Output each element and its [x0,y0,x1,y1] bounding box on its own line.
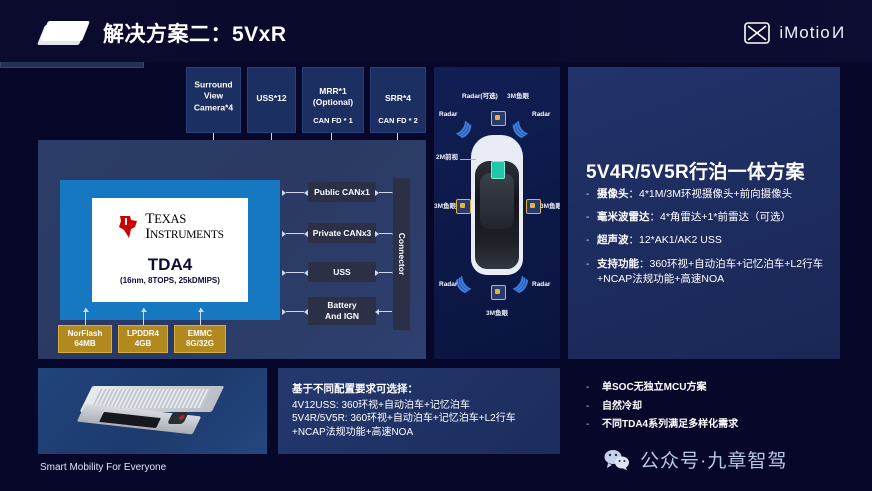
vehicle-sensor-layout: ))) ))) ))) ))) Radar(可选) 3M鱼眼 Radar Rad… [434,67,560,359]
sensor-sublabel: CAN FD * 2 [371,116,425,125]
fisheye-camera-front-icon [491,111,506,126]
sensor-label: Surround View Camera*4 [187,79,240,113]
spec-bullet: - [586,210,597,225]
sensor-box-srr: SRR*4 CAN FD * 2 [370,67,426,133]
chip-spec: (16nm, 8TOPS, 25kDMIPS) [92,276,248,285]
signal-label: USS [333,267,350,278]
signal-label-2: And IGN [325,311,359,322]
ecu-domain-controller-image [78,386,228,438]
config-line: +NCAP法规功能+高速NOA [292,426,550,439]
sensor-box-mrr: MRR*1 (Optional) CAN FD * 1 [302,67,364,133]
note-text: 单SOC无独立MCU方案 [602,382,706,394]
car-roof [480,173,514,229]
chip-name: TDA4 [92,255,248,275]
memory-arrow [85,308,86,325]
memory-size: 4GB [135,339,151,349]
label-radar-front-left: Radar [439,111,457,118]
texas-instruments-logo: TEXAS INSTRUMENTS [92,198,248,242]
label-fisheye-bottom: 3M鱼眼 [486,307,508,317]
connector-label: Connector [397,233,407,276]
wire-soc-uss [286,272,304,273]
system-block-diagram: TEXAS INSTRUMENTS TDA4 (16nm, 8TOPS, 25k… [38,140,426,359]
config-line: 4V12USS: 360环视+自动泊车+记忆泊车 [292,399,550,412]
signal-label: Private CANx3 [313,228,372,239]
brand-logo: iMotioN [744,22,844,44]
spec-key: 超声波 [597,234,629,246]
note-item: - 不同TDA4系列满足多样化需求 [586,419,840,431]
signal-box-battery-ign: Battery And IGN [308,297,376,325]
note-text: 自然冷却 [602,401,642,413]
label-front-camera: 2M前视 [436,151,458,161]
watermark-text: 公众号·九章智驾 [640,446,787,473]
slide-header: 解决方案二：5VxR iMotioN [0,0,872,62]
memory-name: EMMC [188,329,212,339]
config-line: 5V4R/5V5R: 360环视+自动泊车+记忆泊车+L2行车 [292,412,550,425]
sensor-label: USS*12 [248,93,295,104]
brand-name-main: iMotio [779,23,830,42]
ti-exas: EXAS [154,212,186,226]
slide-stack-icon [38,20,84,46]
product-photo-panel [38,368,267,454]
memory-arrow [200,308,201,325]
memory-box-lpddr4: LPDDR4 4GB [118,325,168,353]
note-bullet: - [586,419,602,431]
note-item: - 单SOC无独立MCU方案 [586,382,840,394]
sensor-label: MRR*1 (Optional) [303,86,363,109]
spec-panel: 5V4R/5V5R行泊一体方案 - 摄像头：4*1M/3M环视摄像头+前向摄像头… [568,67,840,359]
sensor-box-uss: USS*12 [247,67,296,133]
fisheye-camera-right-icon [526,199,541,214]
radar-wave-icon: ))) [511,275,529,296]
ti-t: T [145,211,154,227]
brand-name: iMotioN [779,23,844,43]
spec-key: 摄像头 [597,188,629,200]
spec-key: 支持功能 [597,258,639,270]
notes-panel: - 单SOC无独立MCU方案 - 自然冷却 - 不同TDA4系列满足多样化需求 [568,368,840,454]
sensor-sublabel: CAN FD * 1 [303,116,363,125]
sensor-box-surround-view-camera: Surround View Camera*4 [186,67,241,133]
label-radar-optional: Radar(可选) [462,90,498,100]
spec-value: ：12*AK1/AK2 USS [629,234,722,246]
tagline: Smart Mobility For Everyone [40,462,166,473]
signal-box-public-can: Public CANx1 [308,182,376,202]
memory-name: LPDDR4 [127,329,159,339]
spec-item-radar: - 毫米波雷达：4*角雷达+1*前雷达（可选） [586,210,830,225]
ti-nstruments: NSTRUMENTS [150,229,224,241]
label-radar-front-right: Radar [532,111,550,118]
watermark: 公众号·九章智驾 [604,446,787,473]
spec-item-functions: - 支持功能：360环视+自动泊车+记忆泊车+L2行车+NCAP法规功能+高速N… [586,257,830,287]
note-text: 不同TDA4系列满足多样化需求 [602,419,738,431]
signal-label: Public CANx1 [314,187,370,198]
memory-size: 8G/32G [186,339,214,349]
fisheye-camera-left-icon [456,199,471,214]
wire-soc-public-can [286,192,304,193]
note-item: - 自然冷却 [586,401,840,413]
ti-chip-card: TEXAS INSTRUMENTS TDA4 (16nm, 8TOPS, 25k… [92,198,248,302]
spec-bullet: - [586,257,597,287]
wire-battery-connector [379,311,392,312]
spec-item-ultrasonic: - 超声波：12*AK1/AK2 USS [586,233,830,248]
memory-name: NorFlash [68,329,103,339]
memory-arrow [143,308,144,325]
note-bullet: - [586,401,602,413]
wire-uss-connector [379,272,392,273]
spec-key: 毫米波雷达 [597,211,650,223]
car-top-view [471,135,523,275]
note-bullet: - [586,382,602,394]
spec-title: 5V4R/5V5R行泊一体方案 [586,157,805,184]
imotion-bowtie-icon [744,22,770,44]
memory-size: 64MB [74,339,95,349]
front-camera-module-icon [491,161,505,179]
soc-block: TEXAS INSTRUMENTS TDA4 (16nm, 8TOPS, 25k… [60,180,280,320]
spec-bullet: - [586,187,597,202]
label-radar-rear-left: Radar [439,281,457,288]
wire-soc-private-can [286,233,304,234]
config-title: 基于不同配置要求可选择： [292,381,550,396]
spec-item-camera: - 摄像头：4*1M/3M环视摄像头+前向摄像头 [586,187,830,202]
ti-wordmark: TEXAS INSTRUMENTS [145,212,223,242]
memory-box-emmc: EMMC 8G/32G [174,325,226,353]
slide-root: 解决方案二：5VxR iMotioN iDC Mid Surround View… [0,0,872,491]
signal-box-private-can: Private CANx3 [308,223,376,243]
radar-wave-icon: ))) [455,275,473,296]
spec-value: ：4*1M/3M环视摄像头+前向摄像头 [629,188,793,200]
wire-public-can-connector [379,192,392,193]
radar-wave-icon: ))) [455,119,473,140]
page-title: 解决方案二：5VxR [103,18,287,48]
sensor-label: SRR*4 [371,93,425,104]
wire-soc-battery [286,311,304,312]
radar-wave-icon: ))) [511,119,529,140]
label-radar-rear-right: Radar [532,281,550,288]
config-panel: 基于不同配置要求可选择： 4V12USS: 360环视+自动泊车+记忆泊车 5V… [278,368,560,454]
label-fisheye-right: 3M鱼眼 [540,200,560,210]
ti-texas-state-icon [116,214,140,240]
connector-block: Connector [393,178,410,330]
fisheye-camera-rear-icon [491,285,506,300]
memory-box-norflash: NorFlash 64MB [58,325,112,353]
spec-list: - 摄像头：4*1M/3M环视摄像头+前向摄像头 - 毫米波雷达：4*角雷达+1… [586,187,830,295]
signal-box-uss: USS [308,262,376,282]
wechat-icon [604,449,630,470]
wire-private-can-connector [379,233,392,234]
label-fisheye-left: 3M鱼眼 [434,200,456,210]
leader-line-front-cam [460,159,476,160]
spec-value: ：4*角雷达+1*前雷达（可选） [650,211,791,223]
signal-label: Battery [325,300,359,311]
brand-name-flipped-n: N [831,23,844,43]
label-fisheye-top: 3M鱼眼 [507,90,529,100]
spec-bullet: - [586,233,597,248]
